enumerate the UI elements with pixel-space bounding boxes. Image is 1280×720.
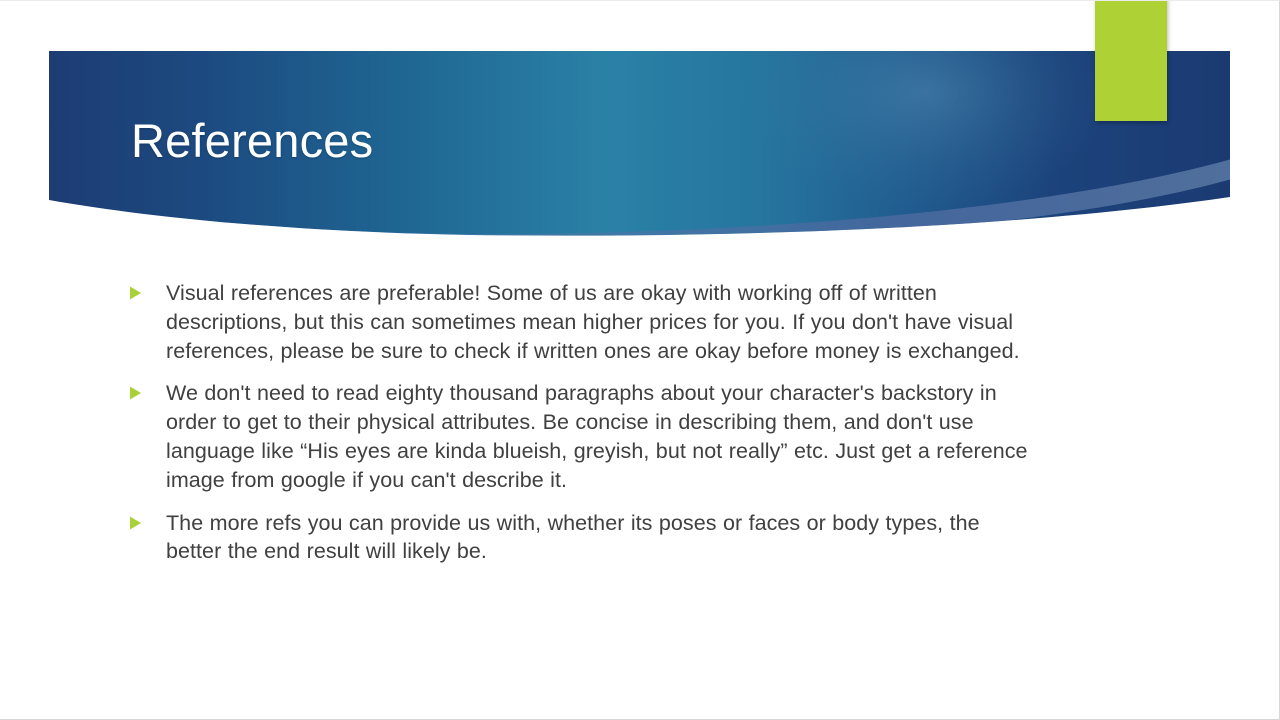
list-item: The more refs you can provide us with, w… xyxy=(128,509,1048,567)
presentation-slide: References Visual references are prefera… xyxy=(0,0,1280,720)
list-item-text: The more refs you can provide us with, w… xyxy=(166,509,1028,567)
banner-edge-shade xyxy=(49,197,1230,239)
bullet-list: Visual references are preferable! Some o… xyxy=(128,279,1048,580)
list-item: Visual references are preferable! Some o… xyxy=(128,279,1048,365)
banner-swoosh xyxy=(46,159,1232,249)
green-accent-rectangle xyxy=(1095,0,1167,121)
triangle-right-icon xyxy=(128,379,166,401)
banner-glow xyxy=(740,1,1110,211)
page-title: References xyxy=(131,113,373,169)
list-item-text: Visual references are preferable! Some o… xyxy=(166,279,1026,365)
list-item-text: We don't need to read eighty thousand pa… xyxy=(166,379,1041,494)
triangle-right-icon xyxy=(128,509,166,531)
triangle-right-icon xyxy=(128,279,166,301)
list-item: We don't need to read eighty thousand pa… xyxy=(128,379,1048,494)
